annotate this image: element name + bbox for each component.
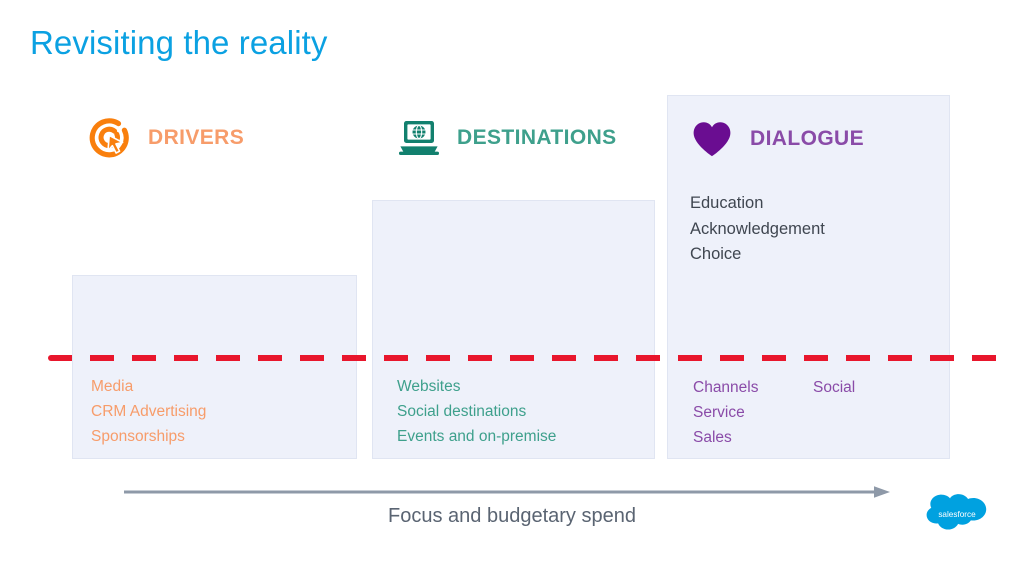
drivers-below-line-list: Media CRM Advertising Sponsorships [91,374,206,449]
dialogue-above-line-list: Education Acknowledgement Choice [690,191,825,268]
column-label-destinations: DESTINATIONS [457,126,617,150]
column-header-drivers: DRIVERS [88,115,244,161]
salesforce-logo-text: salesforce [938,510,976,519]
list-item: Sponsorships [91,424,206,449]
target-cursor-icon [88,116,132,160]
column-label-dialogue: DIALOGUE [750,127,864,151]
dialogue-below-line-column-primary: Channels Service Sales [693,375,813,450]
list-item: Choice [690,242,825,268]
spend-axis-caption: Focus and budgetary spend [0,505,1024,528]
heart-icon [690,117,734,161]
list-item: Channels [693,375,813,400]
list-item: Websites [397,374,556,399]
list-item: Acknowledgement [690,217,825,243]
page-title: Revisiting the reality [30,24,328,62]
list-item: Media [91,374,206,399]
dialogue-below-line-column-secondary: Social [813,375,855,450]
salesforce-cloud-logo: salesforce [926,492,988,534]
list-item: Sales [693,425,813,450]
laptop-globe-icon [397,116,441,160]
list-item: Events and on-premise [397,424,556,449]
red-dashed-threshold-line [48,355,1008,361]
column-header-destinations: DESTINATIONS [397,115,617,161]
list-item: Social [813,375,855,400]
column-header-dialogue: DIALOGUE [690,116,864,162]
destinations-below-line-list: Websites Social destinations Events and … [397,374,556,449]
column-label-drivers: DRIVERS [148,126,244,150]
list-item: Education [690,191,825,217]
list-item: Service [693,400,813,425]
dialogue-below-line-list: Channels Service Sales Social [693,375,855,450]
slide-canvas: Revisiting the reality DRIVERS [0,0,1024,564]
spend-arrow-icon [124,485,892,499]
list-item: Social destinations [397,399,556,424]
list-item: CRM Advertising [91,399,206,424]
